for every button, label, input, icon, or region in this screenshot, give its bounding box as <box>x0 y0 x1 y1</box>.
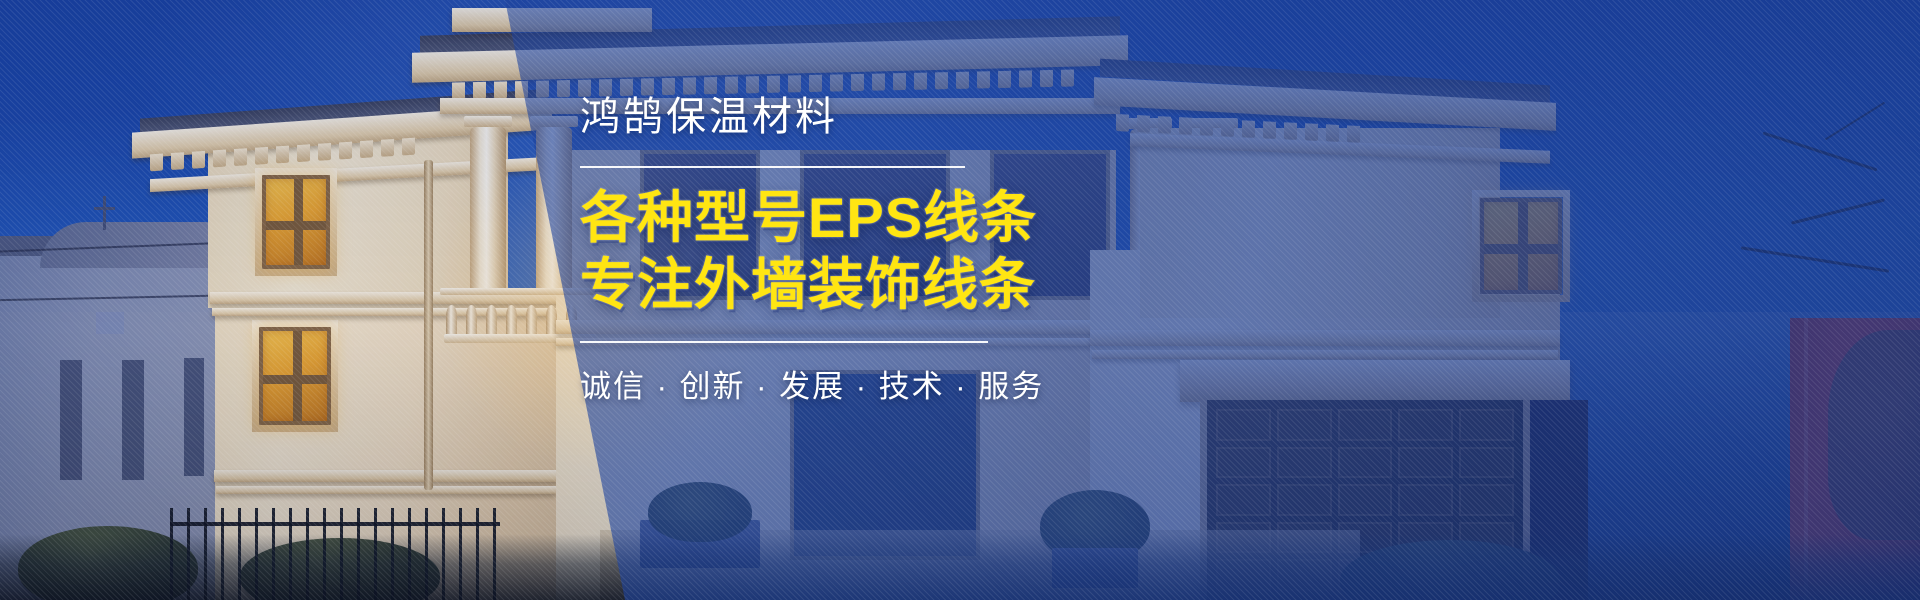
headline-line-1: 各种型号EPS线条 <box>580 186 1140 249</box>
divider-rule-bottom <box>580 341 988 343</box>
divider-rule-top <box>580 166 965 168</box>
hero-banner: 鸿鹄保温材料 各种型号EPS线条 专注外墙装饰线条 诚信 · 创新 · 发展 ·… <box>0 0 1920 600</box>
company-tagline: 诚信 · 创新 · 发展 · 技术 · 服务 <box>580 361 1140 406</box>
banner-copy: 鸿鹄保温材料 各种型号EPS线条 专注外墙装饰线条 诚信 · 创新 · 发展 ·… <box>580 96 1140 406</box>
headline-line-2: 专注外墙装饰线条 <box>580 253 1140 316</box>
company-brand-name: 鸿鹄保温材料 <box>580 96 1140 138</box>
